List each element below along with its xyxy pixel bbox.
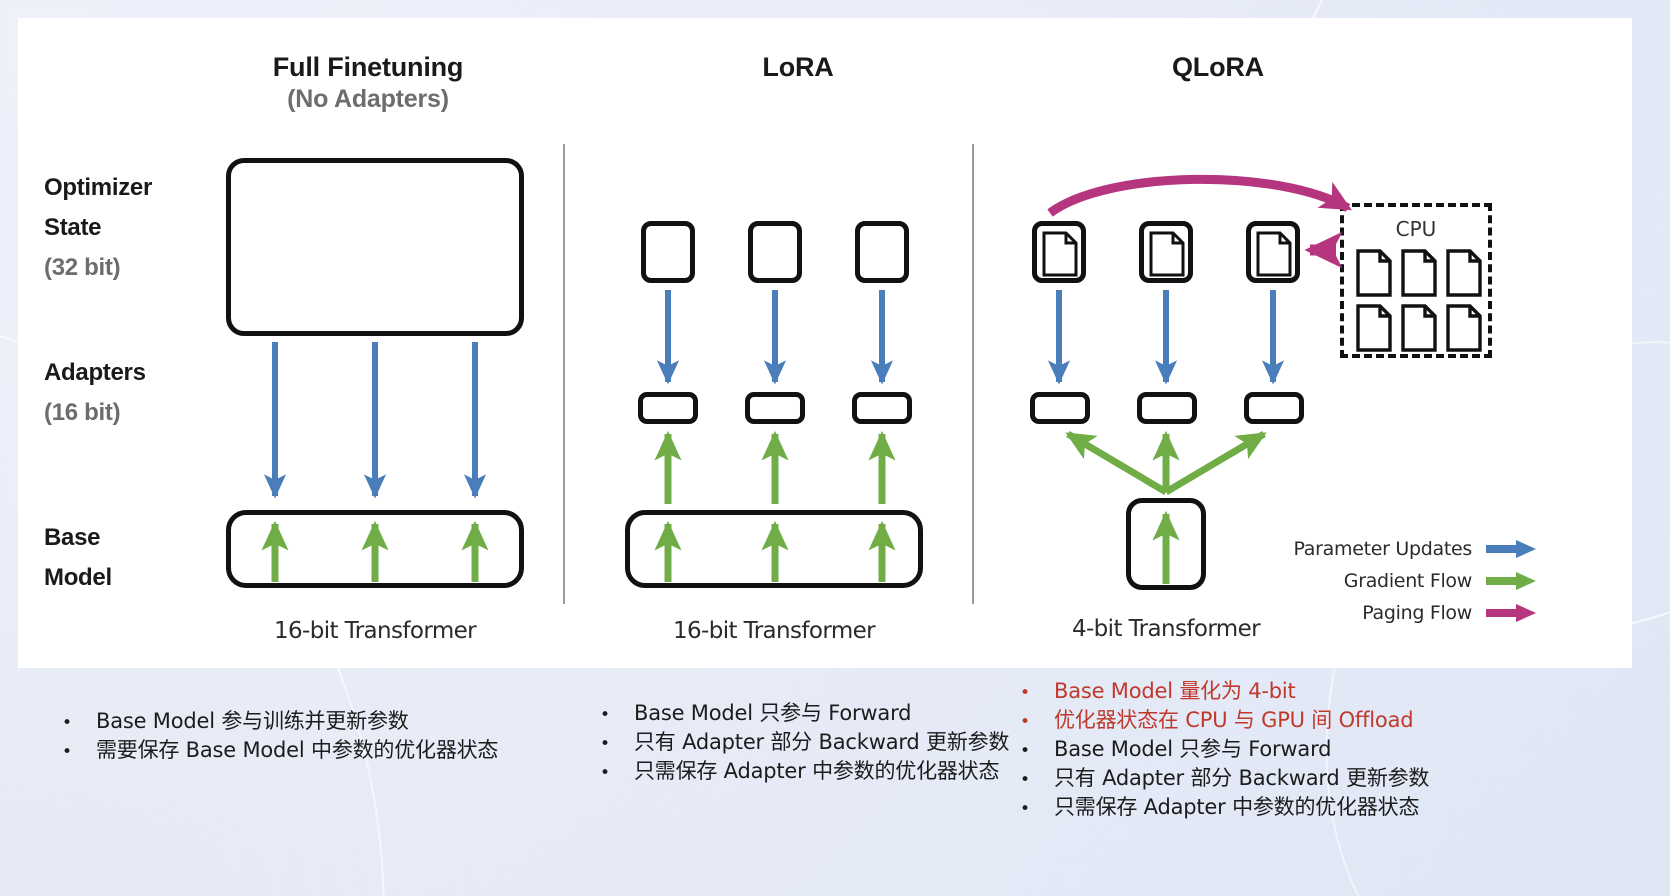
bullet-text: 需要保存 Base Model 中参数的优化器状态 [96, 737, 498, 764]
adapter-box-qlora-1 [1030, 392, 1090, 424]
column-divider-1 [563, 144, 565, 604]
legend: Parameter Updates Gradient Flow Paging F… [1294, 533, 1539, 629]
parameter-update-arrows-qlora [1059, 290, 1273, 382]
paging-flow-arrow-to-cpu [1050, 179, 1348, 213]
legend-item-gradient-flow: Gradient Flow [1294, 565, 1539, 597]
cpu-label: CPU [1344, 217, 1488, 241]
parameter-update-arrows-full [275, 342, 475, 496]
column-title-text: LoRA [628, 52, 968, 82]
bullet-text: 只需保存 Adapter 中参数的优化器状态 [1054, 794, 1419, 821]
row-label-line2: Model [44, 558, 112, 598]
bullet-dot-icon: • [1020, 680, 1054, 707]
base-model-box-qlora [1126, 498, 1206, 590]
adapter-box-qlora-3 [1244, 392, 1304, 424]
bullet-item: •Base Model 参与训练并更新参数 [62, 708, 498, 737]
bullet-text: 只有 Adapter 部分 Backward 更新参数 [634, 729, 1009, 756]
adapter-box-qlora-2 [1137, 392, 1197, 424]
bullet-dot-icon: • [62, 739, 96, 766]
bullet-column-lora: •Base Model 只参与 Forward•只有 Adapter 部分 Ba… [600, 700, 1009, 787]
bullet-item: •只有 Adapter 部分 Backward 更新参数 [1020, 765, 1429, 794]
bullet-item: •只需保存 Adapter 中参数的优化器状态 [600, 758, 1009, 787]
column-title-full-finetuning: Full Finetuning (No Adapters) [198, 52, 538, 116]
bullet-dot-icon: • [1020, 738, 1054, 765]
legend-item-parameter-updates: Parameter Updates [1294, 533, 1539, 565]
bullet-text: Base Model 参与训练并更新参数 [96, 708, 409, 735]
row-label-adapters: Adapters (16 bit) [44, 353, 146, 433]
column-title-text: QLoRA [1048, 52, 1388, 82]
bullet-dot-icon: • [1020, 767, 1054, 794]
bullet-text: 只有 Adapter 部分 Backward 更新参数 [1054, 765, 1429, 792]
legend-label: Gradient Flow [1344, 570, 1472, 592]
adapter-box-lora-3 [852, 392, 912, 424]
row-label-base-model: Base Model [44, 518, 112, 598]
bullet-item: •只有 Adapter 部分 Backward 更新参数 [600, 729, 1009, 758]
bullets-area: •Base Model 参与训练并更新参数•需要保存 Base Model 中参… [0, 690, 1670, 896]
optimizer-state-box-qlora-2 [1139, 221, 1193, 283]
parameter-update-arrows-lora [668, 290, 882, 382]
column-title-lora: LoRA [628, 52, 968, 82]
bullet-column-qlora: •Base Model 量化为 4-bit•优化器状态在 CPU 与 GPU 间… [1020, 678, 1429, 823]
base-model-box-full [226, 510, 524, 588]
bullet-column-full-finetuning: •Base Model 参与训练并更新参数•需要保存 Base Model 中参… [62, 708, 498, 766]
legend-label: Paging Flow [1362, 602, 1472, 624]
bullet-item: •Base Model 只参与 Forward [600, 700, 1009, 729]
row-label-line1: Base [44, 518, 112, 558]
cpu-box: CPU [1340, 203, 1492, 358]
caption-lora: 16-bit Transformer [624, 618, 924, 644]
row-label-line1: Optimizer [44, 168, 152, 208]
caption-qlora: 4-bit Transformer [1016, 616, 1316, 642]
bullet-dot-icon: • [600, 760, 634, 787]
optimizer-state-box-lora-3 [855, 221, 909, 283]
diagram-card: Full Finetuning (No Adapters) LoRA QLoRA… [18, 18, 1632, 668]
bullet-text: Base Model 只参与 Forward [634, 700, 911, 727]
bullet-item: •只需保存 Adapter 中参数的优化器状态 [1020, 794, 1429, 823]
bullet-item: •Base Model 量化为 4-bit [1020, 678, 1429, 707]
column-title-qlora: QLoRA [1048, 52, 1388, 82]
optimizer-state-box-lora-1 [641, 221, 695, 283]
bullet-dot-icon: • [1020, 796, 1054, 823]
row-label-dim: (32 bit) [44, 248, 152, 288]
optimizer-state-box-lora-2 [748, 221, 802, 283]
bullet-text: 优化器状态在 CPU 与 GPU 间 Offload [1054, 707, 1413, 734]
bullet-dot-icon: • [600, 731, 634, 758]
bullet-text: Base Model 量化为 4-bit [1054, 678, 1296, 705]
legend-arrow-gradient-flow [1486, 570, 1538, 592]
row-label-line1: Adapters [44, 353, 146, 393]
row-label-dim: (16 bit) [44, 393, 146, 433]
column-title-text: Full Finetuning [198, 52, 538, 82]
adapter-box-lora-1 [638, 392, 698, 424]
bullet-item: •Base Model 只参与 Forward [1020, 736, 1429, 765]
bullet-dot-icon: • [62, 710, 96, 737]
base-model-box-lora [625, 510, 923, 588]
optimizer-state-box-qlora-1 [1032, 221, 1086, 283]
bullet-item: •优化器状态在 CPU 与 GPU 间 Offload [1020, 707, 1429, 736]
optimizer-state-box-qlora-3 [1246, 221, 1300, 283]
bullet-item: •需要保存 Base Model 中参数的优化器状态 [62, 737, 498, 766]
legend-label: Parameter Updates [1294, 538, 1473, 560]
bullet-dot-icon: • [1020, 709, 1054, 736]
legend-arrow-parameter-updates [1486, 538, 1538, 560]
optimizer-state-box-full [226, 158, 524, 336]
legend-item-paging-flow: Paging Flow [1294, 597, 1539, 629]
row-label-optimizer-state: Optimizer State (32 bit) [44, 168, 152, 288]
bullet-text: 只需保存 Adapter 中参数的优化器状态 [634, 758, 999, 785]
caption-full-finetuning: 16-bit Transformer [225, 618, 525, 644]
adapter-box-lora-2 [745, 392, 805, 424]
column-divider-2 [972, 144, 974, 604]
column-subtitle-text: (No Adapters) [198, 82, 538, 116]
row-label-line2: State [44, 208, 152, 248]
bullet-dot-icon: • [600, 702, 634, 729]
bullet-text: Base Model 只参与 Forward [1054, 736, 1331, 763]
legend-arrow-paging-flow [1486, 602, 1538, 624]
